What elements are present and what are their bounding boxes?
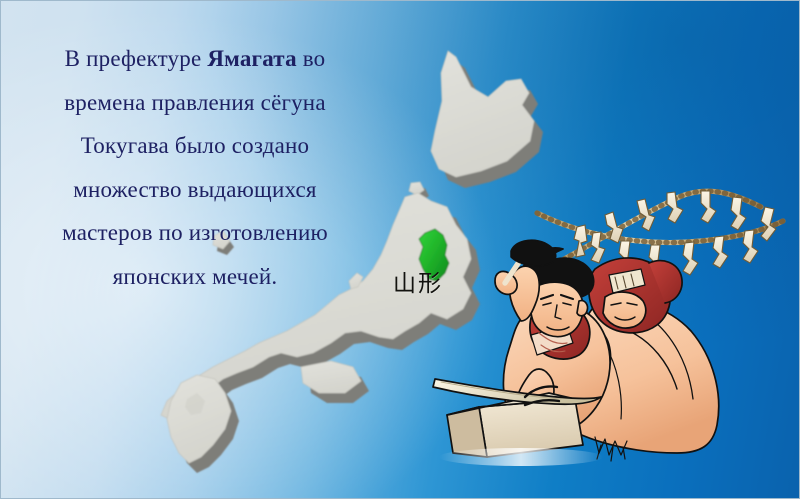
caption-line-1-before: В префектуре	[65, 46, 208, 71]
caption-line-1-after: во	[297, 46, 326, 71]
caption-line-4: множество выдающихся	[35, 168, 355, 212]
slide-canvas: 山形	[0, 0, 800, 499]
caption-line-5: мастеров по изготовлению	[35, 211, 355, 255]
caption-line-3: Токугава было создано	[35, 124, 355, 168]
caption-text: В префектуре Ямагата во времена правлени…	[35, 37, 355, 298]
caption-line-2: времена правления сёгуна	[35, 81, 355, 125]
caption-line-1: В префектуре Ямагата во	[35, 37, 355, 81]
caption-line-6: японских мечей.	[35, 255, 355, 299]
caption-highlight-yamagata: Ямагата	[207, 46, 296, 71]
anvil-glow	[439, 448, 603, 466]
